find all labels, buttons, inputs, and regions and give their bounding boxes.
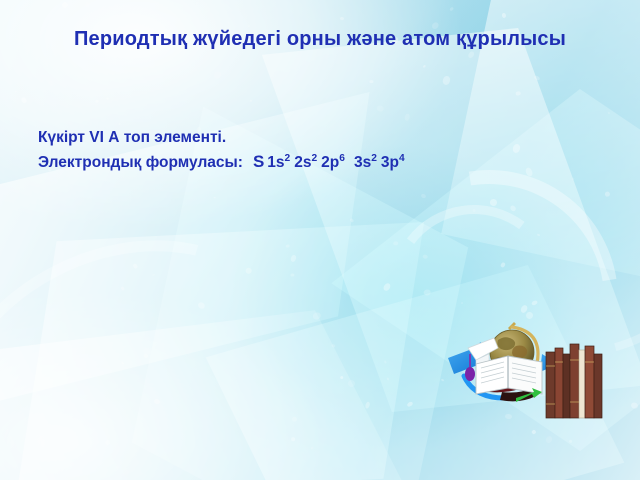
slide-body: Күкірт VI А топ элементі. Электрондық фо…: [38, 126, 409, 175]
book-stack-icon: [546, 344, 602, 418]
element-group-line: Күкірт VI А топ элементі.: [38, 126, 409, 150]
slide-title: Периодтық жүйедегі орны және атом құрылы…: [0, 28, 640, 51]
orbital-3s: 3s2: [354, 154, 377, 171]
electron-configuration: S1s22s22p63s23p4: [253, 154, 409, 171]
electron-formula-label: Электрондық формуласы:: [38, 154, 243, 171]
orbital-1s: 1s2: [267, 154, 290, 171]
orbital-3p: 3p4: [381, 154, 405, 171]
orbital-2s: 2s2: [294, 154, 317, 171]
electron-formula-line: Электрондық формуласы:S1s22s22p63s23p4: [38, 150, 409, 175]
element-symbol: S: [253, 152, 264, 171]
presentation-slide: Периодтық жүйедегі орны және атом құрылы…: [0, 0, 640, 480]
orbital-2p: 2p6: [321, 154, 345, 171]
open-book-icon: [476, 356, 542, 394]
education-clipart: [446, 318, 606, 426]
